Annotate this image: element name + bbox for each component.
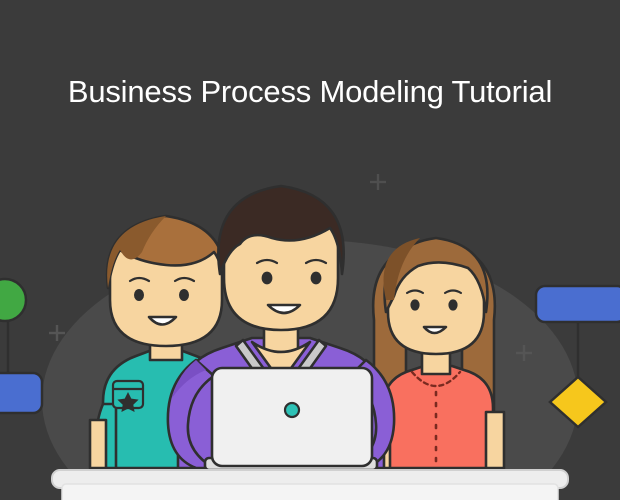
person-right-eye: [410, 299, 419, 310]
desk: [52, 470, 568, 500]
person-right-blouse: [383, 366, 493, 468]
person-right-arm: [486, 412, 504, 468]
person-left-arm: [90, 420, 106, 468]
laptop-logo-dot: [285, 403, 299, 417]
person-center-eye: [262, 272, 273, 285]
desk-front: [62, 484, 558, 500]
person-left-eye: [179, 289, 189, 301]
person-left-eye: [134, 289, 144, 301]
tutorial-cover-image: Business Process Modeling Tutorial: [0, 0, 620, 500]
person-center-eye: [311, 272, 322, 285]
illustration-layer: [0, 0, 620, 500]
person-right-eye: [448, 299, 457, 310]
laptop: [205, 368, 377, 470]
